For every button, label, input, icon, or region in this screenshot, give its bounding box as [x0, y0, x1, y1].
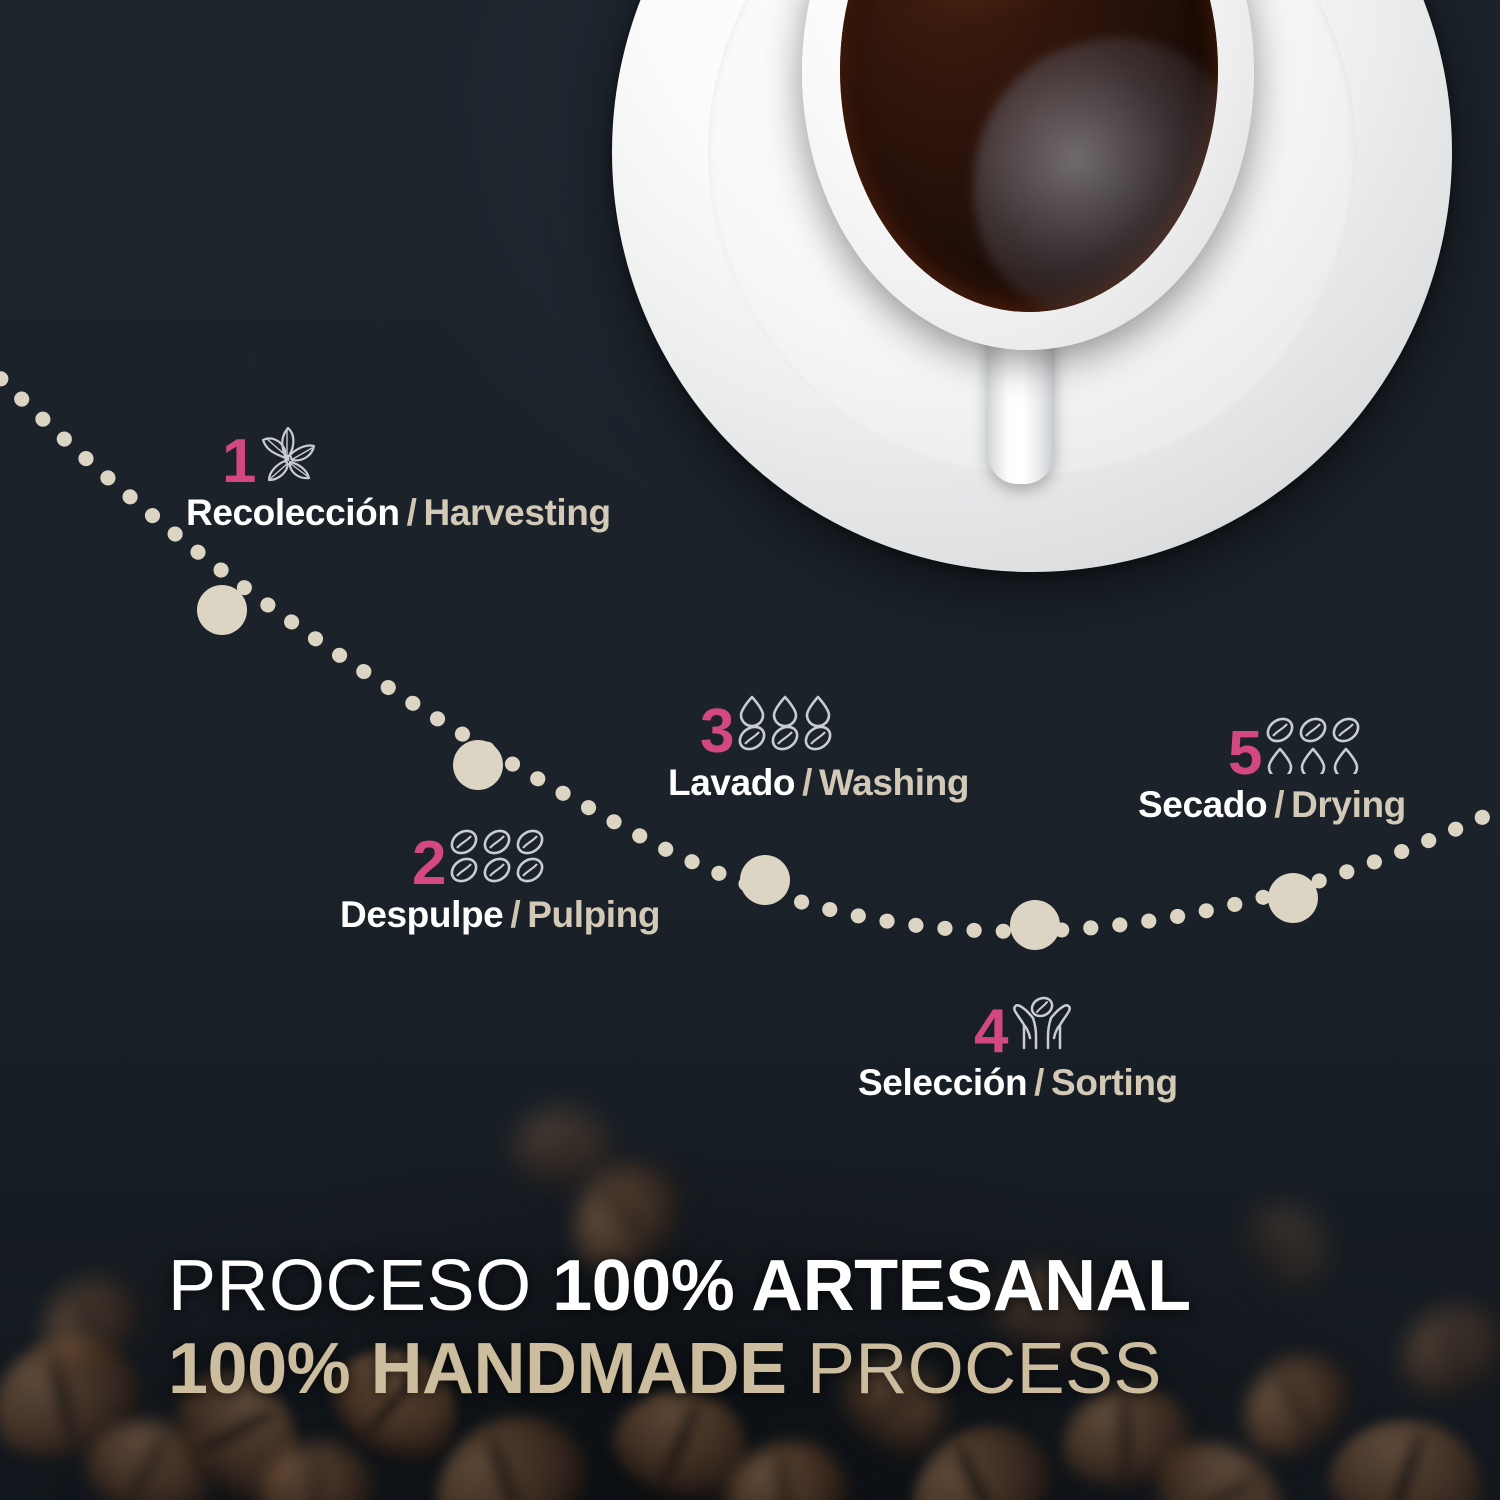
step-1-label-es: Recolección [186, 492, 400, 533]
step-5-label-es: Secado [1138, 784, 1267, 825]
step-1-label-en: Harvesting [423, 492, 610, 533]
headline-proceso: PROCESO [168, 1246, 532, 1326]
process-step-4: 4 Selección/Sorting [858, 994, 1178, 1103]
headline-100-percent: 100% [168, 1329, 350, 1409]
process-step-3: 3 [668, 694, 969, 803]
step-4-separator: / [1027, 1062, 1051, 1103]
headline-line-1: PROCESO 100% ARTESANAL [168, 1250, 1348, 1323]
step-1-number: 1 [222, 433, 255, 490]
headline-block: PROCESO 100% ARTESANAL 100% HANDMADE PRO… [168, 1250, 1348, 1407]
step-5-number: 5 [1228, 725, 1261, 782]
path-node-3 [740, 855, 790, 905]
path-node-4 [1010, 900, 1060, 950]
step-3-separator: / [795, 762, 819, 803]
step-4-label-en: Sorting [1051, 1062, 1178, 1103]
step-2-header: 2 [340, 826, 660, 892]
step-3-label-es: Lavado [668, 762, 795, 803]
water-drops-over-beans-icon [735, 694, 839, 756]
step-4-label: Selección/Sorting [858, 1062, 1178, 1103]
path-node-1 [197, 585, 247, 635]
step-2-label: Despulpe/Pulping [340, 894, 660, 935]
step-3-label-en: Washing [819, 762, 969, 803]
path-node-5 [1268, 873, 1318, 923]
step-5-separator: / [1267, 784, 1291, 825]
beans-over-water-drops-icon [1263, 716, 1367, 778]
step-4-header: 4 [858, 994, 1178, 1060]
step-3-number: 3 [700, 703, 733, 760]
step-3-header: 3 [668, 694, 969, 760]
step-2-number: 2 [412, 835, 445, 892]
coffee-leaf-icon [257, 424, 317, 486]
process-step-5: 5 [1138, 716, 1406, 825]
headline-handmade: HANDMADE [371, 1329, 787, 1409]
step-5-label: Secado/Drying [1138, 784, 1406, 825]
step-2-separator: / [503, 894, 527, 935]
step-5-label-en: Drying [1291, 784, 1406, 825]
coffee-beans-six-icon [447, 826, 551, 888]
headline-process: PROCESS [807, 1329, 1162, 1409]
coffee-process-infographic: 1 [0, 0, 1500, 1500]
headline-line-2: 100% HANDMADE PROCESS [168, 1333, 1348, 1406]
step-5-header: 5 [1138, 716, 1406, 782]
process-step-1: 1 [186, 424, 611, 533]
step-1-header: 1 [186, 424, 611, 490]
path-node-2 [453, 740, 503, 790]
headline-artesanal: 100% ARTESANAL [552, 1246, 1190, 1326]
step-2-label-en: Pulping [527, 894, 660, 935]
step-4-label-es: Selección [858, 1062, 1027, 1103]
coffee-cup-photo [612, 0, 1452, 572]
step-2-label-es: Despulpe [340, 894, 503, 935]
step-1-label: Recolección/Harvesting [186, 492, 611, 533]
step-3-label: Lavado/Washing [668, 762, 969, 803]
hands-holding-bean-icon [1009, 994, 1075, 1056]
step-1-separator: / [400, 492, 424, 533]
step-4-number: 4 [974, 1003, 1007, 1060]
process-step-2: 2 [340, 826, 660, 935]
